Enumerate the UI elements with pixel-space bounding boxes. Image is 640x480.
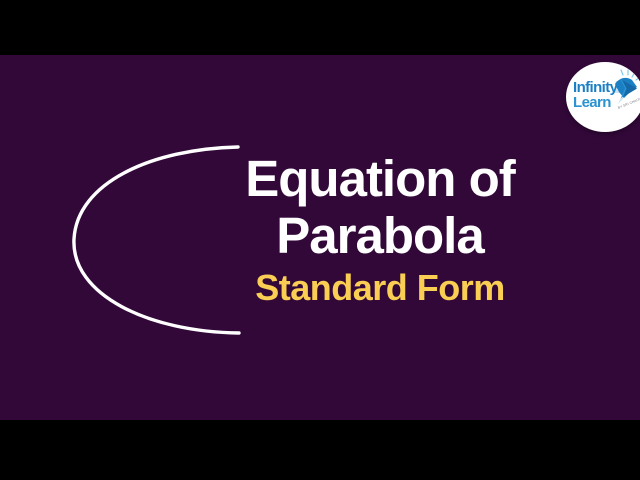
title-line-2: Parabola: [150, 207, 610, 264]
slide-stage: Equation of Parabola Standard Form: [0, 55, 640, 420]
subtitle: Standard Form: [150, 265, 610, 311]
brand-logo-disc: Infinity Learn BY SRI CHAITAN: [566, 62, 640, 132]
title-block: Equation of Parabola Standard Form: [150, 150, 610, 311]
title-line-1: Equation of: [150, 150, 610, 207]
brand-logo: Infinity Learn BY SRI CHAITAN: [566, 62, 640, 132]
letterbox-bar-top: [0, 0, 640, 55]
video-frame: Equation of Parabola Standard Form Infin…: [0, 0, 640, 480]
letterbox-bar-bottom: [0, 420, 640, 480]
